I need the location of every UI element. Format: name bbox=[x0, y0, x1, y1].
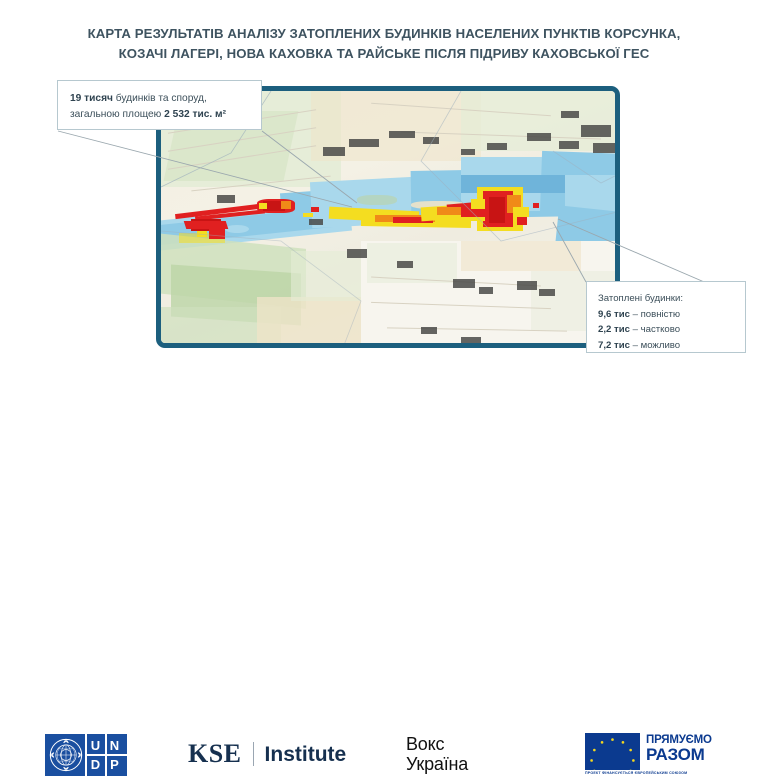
eu-wordmark: ПРЯМУЄМО РАЗОМ bbox=[646, 733, 712, 763]
callout-flooded-row: 9,6 тис – повністю bbox=[598, 307, 745, 323]
undp-letter-p: P bbox=[106, 756, 123, 773]
callout-flooded-label-full: – повністю bbox=[630, 309, 680, 320]
callout-buildings-total-count: 19 тисяч bbox=[70, 93, 113, 104]
callout-flooded-label-partial: – частково bbox=[630, 324, 680, 335]
logo-vox-ukraine[interactable]: Вокс Україна bbox=[406, 734, 468, 774]
page-title-line-1: КАРТА РЕЗУЛЬТАТІВ АНАЛІЗУ ЗАТОПЛЕНИХ БУД… bbox=[0, 24, 768, 44]
vox-line-1: Вокс bbox=[406, 734, 468, 754]
callout-flooded-row: 7,2 тис – можливо bbox=[598, 338, 745, 354]
callout-flooded-breakdown: Затоплені будинки: 9,6 тис – повністю 2,… bbox=[586, 281, 746, 353]
callout-buildings-area-value: 2 532 тис. м² bbox=[164, 109, 226, 120]
callout-buildings-total-line-1: 19 тисяч будинків та споруд, bbox=[70, 91, 249, 107]
eu-line-1: ПРЯМУЄМО bbox=[646, 734, 712, 746]
logo-bar: U N D P KSE Institute Вокс Україна bbox=[0, 360, 768, 432]
callout-buildings-total-text: будинків та споруд, bbox=[113, 93, 207, 104]
kse-mark: KSE bbox=[188, 741, 242, 767]
kse-word: Institute bbox=[265, 744, 347, 765]
callout-flooded-label-possible: – можливо bbox=[630, 340, 680, 351]
undp-letter-d: D bbox=[87, 756, 104, 773]
eu-stars-icon bbox=[585, 733, 640, 770]
undp-letter-u: U bbox=[87, 737, 104, 754]
eu-line-2: РАЗОМ bbox=[646, 746, 712, 763]
un-emblem-icon bbox=[49, 738, 83, 772]
logo-undp[interactable]: U N D P bbox=[45, 734, 127, 776]
slide-root: КАРТА РЕЗУЛЬТАТІВ АНАЛІЗУ ЗАТОПЛЕНИХ БУД… bbox=[0, 0, 768, 432]
logo-kse-institute[interactable]: KSE Institute bbox=[188, 739, 346, 769]
callout-flooded-value-full: 9,6 тис bbox=[598, 309, 630, 320]
kse-divider bbox=[253, 742, 254, 766]
callout-flooded-value-possible: 7,2 тис bbox=[598, 340, 630, 351]
undp-letters: U N D P bbox=[87, 737, 123, 773]
page-title-line-2: КОЗАЧІ ЛАГЕРІ, НОВА КАХОВКА ТА РАЙСЬКЕ П… bbox=[0, 44, 768, 64]
callout-buildings-total-line-2: загальною площею 2 532 тис. м² bbox=[70, 107, 249, 123]
callout-buildings-area-label: загальною площею bbox=[70, 109, 164, 120]
callout-flooded-value-partial: 2,2 тис bbox=[598, 324, 630, 335]
logo-eu-moving-forward[interactable]: ПРЯМУЄМО РАЗОМ ПРОЕКТ ФІНАНСУЄТЬСЯ ЄВРОП… bbox=[585, 733, 725, 777]
vox-line-2: Україна bbox=[406, 754, 468, 774]
eu-fine-print: ПРОЕКТ ФІНАНСУЄТЬСЯ ЄВРОПЕЙСЬКИМ СОЮЗОМ bbox=[585, 771, 725, 775]
callout-flooded-row: 2,2 тис – частково bbox=[598, 322, 745, 338]
callout-buildings-total: 19 тисяч будинків та споруд, загальною п… bbox=[57, 80, 262, 130]
eu-flag-icon bbox=[585, 733, 640, 770]
callout-flooded-heading: Затоплені будинки: bbox=[598, 291, 745, 307]
page-title: КАРТА РЕЗУЛЬТАТІВ АНАЛІЗУ ЗАТОПЛЕНИХ БУД… bbox=[0, 24, 768, 64]
undp-letter-n: N bbox=[106, 737, 123, 754]
